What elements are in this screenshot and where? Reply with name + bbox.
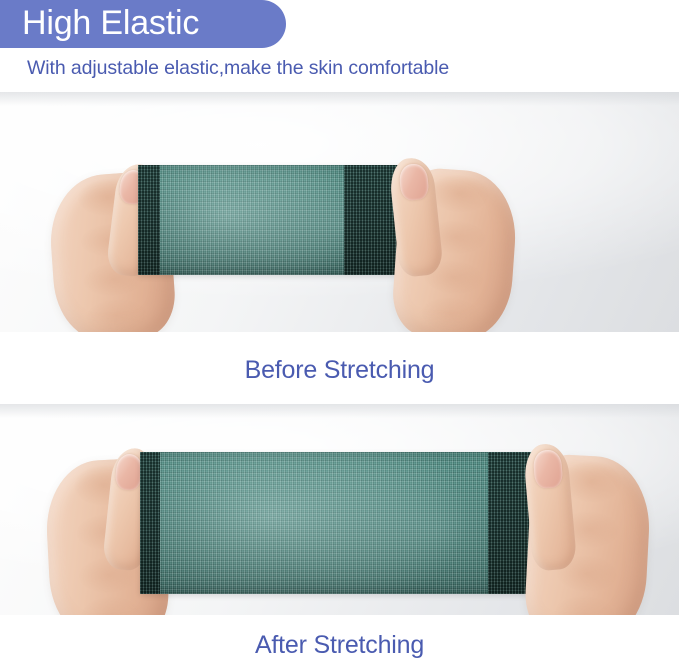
- caption-after-stretching: After Stretching: [0, 631, 679, 660]
- elastic-bandage-unstretched: [138, 165, 420, 275]
- header-subtitle: With adjustable elastic,make the skin co…: [27, 57, 449, 80]
- header-badge: High Elastic: [0, 0, 286, 48]
- right-thumb-nail: [533, 449, 564, 489]
- bandage-edge-left: [138, 165, 160, 275]
- header-badge-label: High Elastic: [0, 6, 199, 43]
- photo-after-stretching: [0, 404, 679, 615]
- elastic-bandage-stretched: [140, 452, 552, 594]
- product-infographic: High Elastic With adjustable elastic,mak…: [0, 0, 679, 664]
- caption-before-stretching: Before Stretching: [0, 356, 679, 385]
- bandage-edge-left: [140, 452, 160, 594]
- photo-before-stretching: [0, 92, 679, 332]
